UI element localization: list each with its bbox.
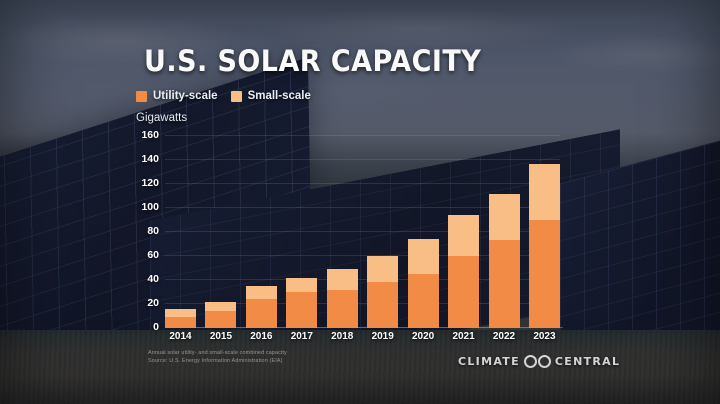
- footnote: Annual solar utility- and small-scale co…: [148, 349, 287, 365]
- bar-segment-small-scale[interactable]: [408, 239, 439, 274]
- x-axis-tick-label: 2022: [493, 331, 515, 342]
- page-title: U.S. SOLAR CAPACITY: [144, 44, 481, 78]
- x-axis-tick-label: 2015: [210, 331, 232, 342]
- bar-segment-utility-scale[interactable]: [165, 317, 196, 328]
- legend-label: Small-scale: [248, 90, 311, 102]
- bar-column[interactable]: 2017: [286, 136, 317, 328]
- bar-column[interactable]: 2015: [205, 136, 236, 328]
- chart-legend: Utility-scale Small-scale: [136, 90, 311, 102]
- bar-segment-utility-scale[interactable]: [448, 256, 479, 328]
- bar-column[interactable]: 2019: [367, 136, 398, 328]
- legend-swatch-icon: [231, 91, 242, 102]
- y-axis-tick-label: 100: [141, 201, 159, 213]
- y-axis-tick-label: 20: [147, 297, 159, 309]
- footnote-line-1: Annual solar utility- and small-scale co…: [148, 349, 287, 357]
- footnote-line-2: Source: U.S. Energy Information Administ…: [148, 357, 287, 365]
- x-axis-tick-label: 2018: [331, 331, 353, 342]
- bar-segment-small-scale[interactable]: [246, 286, 277, 299]
- bar-segment-small-scale[interactable]: [489, 194, 520, 241]
- double-circle-icon: [524, 355, 551, 368]
- bar-segment-utility-scale[interactable]: [529, 220, 560, 328]
- bar-segment-utility-scale[interactable]: [286, 292, 317, 328]
- bar-column[interactable]: 2018: [327, 136, 358, 328]
- x-axis-tick-label: 2020: [412, 331, 434, 342]
- legend-swatch-icon: [136, 91, 147, 102]
- y-axis-tick-label: 160: [141, 129, 159, 141]
- plot-area: 020406080100120140160 201420152016201720…: [165, 136, 560, 328]
- bar-segment-small-scale[interactable]: [165, 309, 196, 317]
- bar-column[interactable]: 2022: [489, 136, 520, 328]
- x-axis-tick-label: 2014: [169, 331, 191, 342]
- climate-central-logo: CLIMATE CENTRAL: [458, 355, 620, 368]
- bar-segment-small-scale[interactable]: [286, 278, 317, 292]
- y-axis-unit-label: Gigawatts: [136, 112, 187, 124]
- legend-item-small-scale: Small-scale: [231, 90, 311, 102]
- bar-column[interactable]: 2020: [408, 136, 439, 328]
- bar-segment-small-scale[interactable]: [448, 215, 479, 256]
- bar-segment-small-scale[interactable]: [205, 302, 236, 312]
- logo-word-climate: CLIMATE: [458, 355, 520, 368]
- y-axis-tick-label: 0: [153, 321, 159, 333]
- bar-segment-utility-scale[interactable]: [327, 290, 358, 328]
- chart-graphic: U.S. SOLAR CAPACITY Utility-scale Small-…: [0, 0, 720, 404]
- x-axis-tick-label: 2017: [291, 331, 313, 342]
- bar-segment-small-scale[interactable]: [367, 256, 398, 282]
- bar-segment-utility-scale[interactable]: [205, 311, 236, 328]
- bar-series-container: 2014201520162017201820192020202120222023: [165, 136, 560, 328]
- bar-column[interactable]: 2023: [529, 136, 560, 328]
- y-axis-tick-label: 120: [141, 177, 159, 189]
- bar-segment-small-scale[interactable]: [327, 269, 358, 289]
- y-axis-tick-label: 60: [147, 249, 159, 261]
- y-axis-tick-label: 140: [141, 153, 159, 165]
- x-axis-tick-label: 2023: [533, 331, 555, 342]
- x-axis-tick-label: 2019: [372, 331, 394, 342]
- y-axis-tick-label: 80: [147, 225, 159, 237]
- bar-segment-utility-scale[interactable]: [246, 299, 277, 328]
- y-axis-tick-label: 40: [147, 273, 159, 285]
- bar-column[interactable]: 2016: [246, 136, 277, 328]
- x-axis-tick-label: 2016: [250, 331, 272, 342]
- bar-segment-small-scale[interactable]: [529, 164, 560, 220]
- logo-word-central: CENTRAL: [555, 355, 620, 368]
- bar-segment-utility-scale[interactable]: [489, 240, 520, 328]
- bar-column[interactable]: 2014: [165, 136, 196, 328]
- x-axis-tick-label: 2021: [452, 331, 474, 342]
- bar-segment-utility-scale[interactable]: [408, 274, 439, 328]
- chart-overlay: U.S. SOLAR CAPACITY Utility-scale Small-…: [0, 0, 720, 404]
- bar-segment-utility-scale[interactable]: [367, 282, 398, 328]
- bar-column[interactable]: 2021: [448, 136, 479, 328]
- legend-item-utility-scale: Utility-scale: [136, 90, 218, 102]
- legend-label: Utility-scale: [153, 90, 218, 102]
